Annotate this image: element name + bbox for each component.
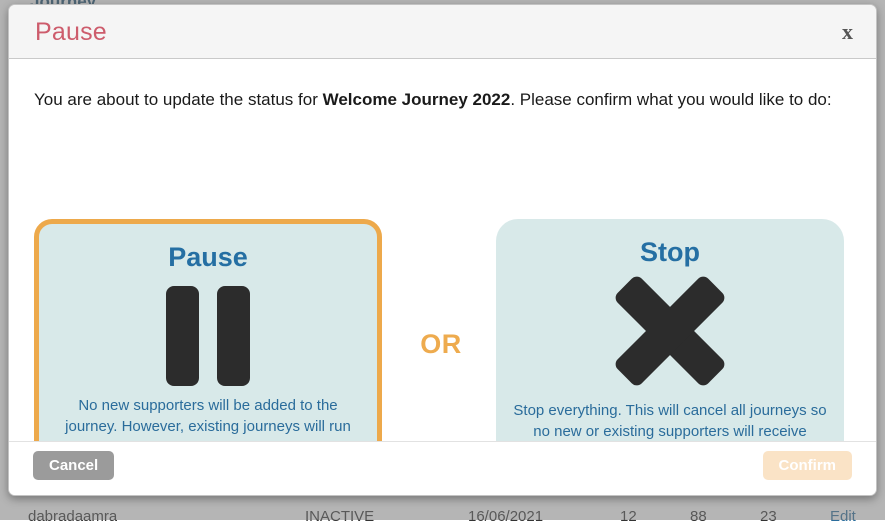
close-icon[interactable]: x: [842, 21, 853, 43]
pause-bar-left: [166, 286, 199, 386]
modal-title: Pause: [35, 18, 107, 47]
option-card-pause-title: Pause: [39, 242, 377, 273]
cancel-button[interactable]: Cancel: [33, 451, 114, 480]
or-separator-label: OR: [382, 329, 500, 360]
cross-x-icon: [618, 279, 722, 383]
confirm-button[interactable]: Confirm: [763, 451, 853, 480]
intro-text-before: You are about to update the status for: [34, 90, 323, 109]
modal-intro-text: You are about to update the status for W…: [34, 87, 834, 112]
modal-body: You are about to update the status for W…: [9, 59, 876, 441]
pause-journey-modal: Pause x You are about to update the stat…: [8, 4, 877, 496]
option-card-stop-title: Stop: [496, 237, 844, 268]
pause-bar-right: [217, 286, 250, 386]
modal-footer: Cancel Confirm: [9, 441, 876, 496]
intro-text-after: . Please confirm what you would like to …: [510, 90, 831, 109]
pause-bars-icon: [166, 286, 250, 386]
modal-header: Pause x: [9, 5, 876, 59]
journey-name: Welcome Journey 2022: [323, 90, 511, 109]
